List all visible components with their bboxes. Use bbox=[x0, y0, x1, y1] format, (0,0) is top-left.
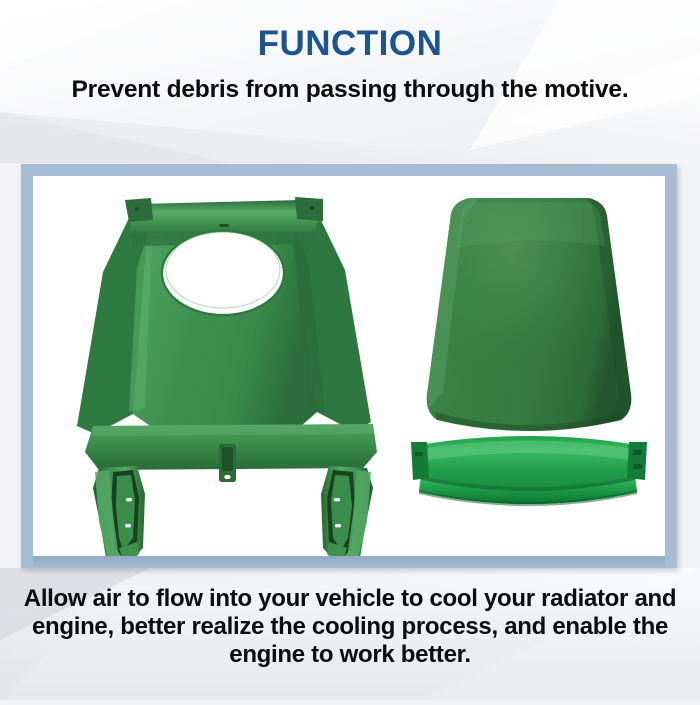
header: FUNCTION Prevent debris from passing thr… bbox=[0, 0, 700, 160]
left-hood-screen-panel bbox=[77, 197, 377, 556]
right-hood-cover-panel bbox=[427, 198, 632, 431]
caption-text: Allow air to flow into your vehicle to c… bbox=[16, 585, 684, 668]
page-title: FUNCTION bbox=[258, 26, 443, 61]
product-image-canvas bbox=[33, 176, 665, 556]
product-parts-illustration bbox=[33, 176, 665, 556]
caption-block: Allow air to flow into your vehicle to c… bbox=[0, 578, 700, 700]
product-image-frame bbox=[21, 164, 677, 568]
lower-grille-band-panel bbox=[411, 436, 647, 506]
header-subtitle: Prevent debris from passing through the … bbox=[30, 76, 670, 104]
